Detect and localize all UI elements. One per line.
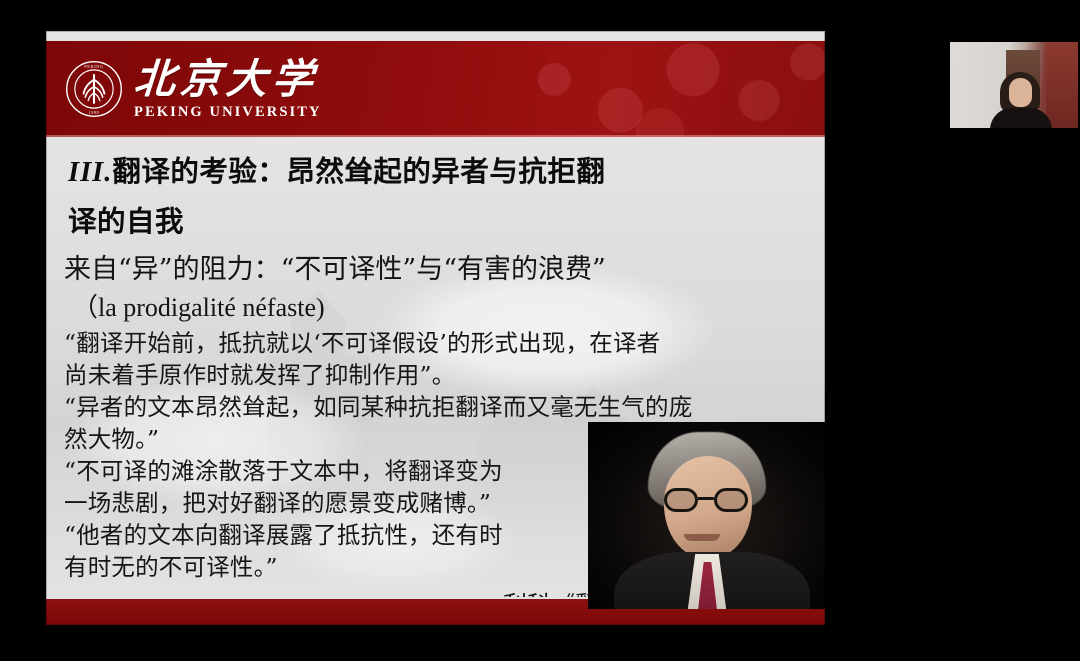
slide-title-line-1: III.翻译的考验：昂然耸起的异者与抗拒翻 (68, 149, 605, 190)
portrait-lens-left (664, 488, 698, 512)
slide-lead-french: （la prodigalité néfaste) (72, 287, 325, 324)
meeting-screen: PEKING 1898 北京大学 PEKING UNIVERSITY III.翻… (0, 0, 1080, 661)
slide-header-band: PEKING 1898 北京大学 PEKING UNIVERSITY (46, 41, 825, 137)
slide-title-text-1: 翻译的考验：昂然耸起的异者与抗拒翻 (112, 155, 605, 188)
speaker-video-thumbnail[interactable] (950, 42, 1078, 128)
webcam-participant-face (1009, 78, 1032, 107)
slide-title-line-2: 译的自我 (68, 199, 184, 240)
university-logo-block: PEKING 1898 北京大学 PEKING UNIVERSITY (65, 59, 322, 120)
portrait-glasses-bridge (698, 497, 714, 500)
slide-title-numeral: III. (68, 157, 112, 188)
webcam-cabinet (1046, 42, 1078, 128)
portrait-mouth (684, 534, 720, 541)
quote-line: 尚未着手原作时就发挥了抑制作用”。 (64, 359, 809, 391)
svg-text:1898: 1898 (89, 110, 99, 115)
header-ornament-pattern (495, 41, 825, 137)
wordmark-english: PEKING UNIVERSITY (134, 105, 322, 120)
university-wordmark: 北京大学 PEKING UNIVERSITY (134, 59, 322, 120)
portrait-lens-right (714, 488, 748, 512)
wordmark-chinese: 北京大学 (133, 59, 320, 100)
paul-ricoeur-portrait-image (588, 422, 825, 609)
peking-university-seal-icon: PEKING 1898 (65, 60, 123, 118)
quote-line: “异者的文本昂然耸起，如同某种抗拒翻译而又毫无生气的庞 (64, 391, 809, 423)
quote-line: “翻译开始前，抵抗就以‘不可译假设’的形式出现，在译者 (64, 327, 809, 359)
portrait-glasses-icon (662, 488, 756, 512)
svg-text:PEKING: PEKING (84, 64, 103, 69)
slide-lead-line: 来自“异”的阻力：“不可译性”与“有害的浪费” (64, 247, 606, 286)
